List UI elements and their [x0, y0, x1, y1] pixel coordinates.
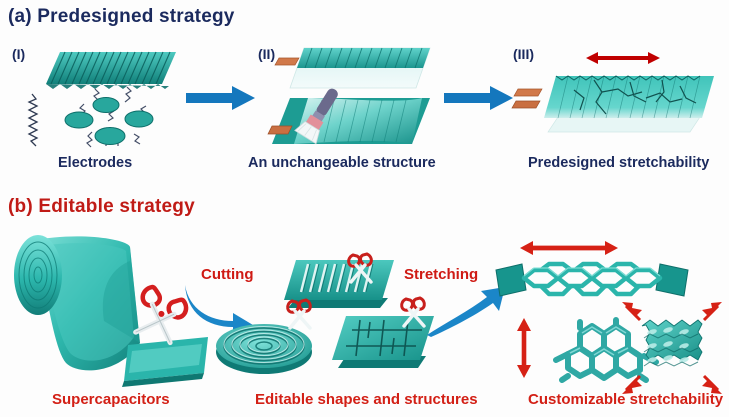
biaxial-mesh-icon	[620, 300, 724, 396]
figure-root: (a) Predesigned strategy (I)	[0, 0, 729, 417]
scissors-icon	[343, 252, 379, 286]
panel-b-caption-2: Editable shapes and structures	[255, 391, 478, 408]
polymer-network-icon	[22, 88, 182, 150]
electrode-tab-icon	[512, 88, 546, 114]
panel-b-title: (b) Editable strategy	[8, 196, 195, 218]
process-label-cutting: Cutting	[201, 266, 253, 283]
panel-a-step-3-roman: (III)	[513, 46, 534, 62]
cracked-film-icon	[534, 70, 714, 138]
panel-a-step-2-roman: (II)	[258, 46, 275, 62]
process-label-stretching: Stretching	[404, 266, 478, 283]
paint-brush-icon	[286, 84, 356, 146]
panel-a-caption-2: An unchangeable structure	[248, 155, 436, 171]
panel-b-caption-3: Customizable stretchability	[528, 391, 723, 408]
electrode-tab-icon	[275, 56, 301, 68]
panel-a-caption-3: Predesigned stretchability	[528, 155, 709, 171]
process-arrow-2-icon	[444, 85, 514, 111]
panel-a-caption-1: Electrodes	[58, 155, 132, 171]
strain-vertical-arrow-icon	[516, 318, 532, 378]
panel-a-step-1-roman: (I)	[12, 46, 25, 62]
scissors-icon	[282, 298, 318, 332]
corrugated-sheet-icon	[46, 50, 176, 90]
panel-a-title: (a) Predesigned strategy	[8, 6, 235, 28]
strain-double-arrow-icon	[520, 240, 618, 256]
panel-b-caption-1: Supercapacitors	[52, 391, 170, 408]
process-arrow-1-icon	[186, 85, 256, 111]
strain-double-arrow-icon	[586, 50, 660, 66]
